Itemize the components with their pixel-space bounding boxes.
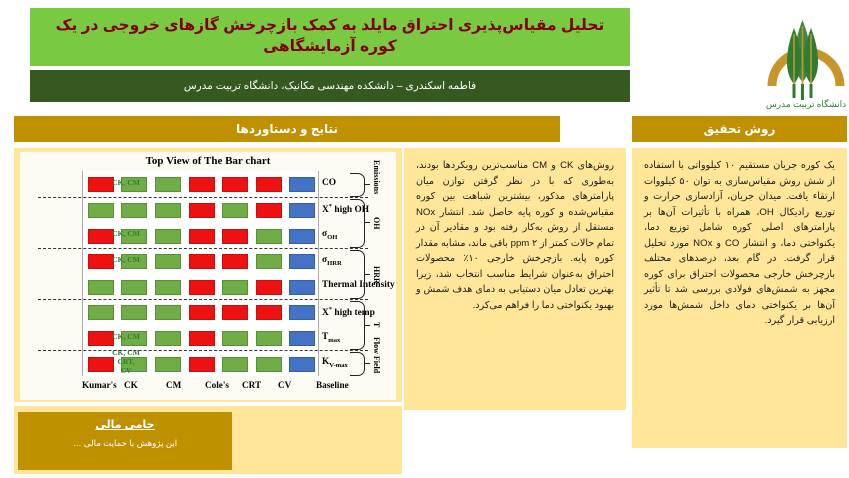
chart-cell bbox=[88, 280, 114, 295]
results-body-text: روش‌های CK و CM مناسب‌ترین رویکردها بودن… bbox=[404, 148, 626, 321]
chart-row-label: σOH bbox=[322, 229, 337, 241]
chart-cell bbox=[222, 177, 248, 192]
chart-cell bbox=[256, 280, 282, 295]
chart-cell bbox=[88, 203, 114, 218]
chart-cell bbox=[289, 177, 315, 192]
chart-cell bbox=[289, 357, 315, 372]
chart-left-annotation: CK, CM bbox=[98, 333, 154, 342]
chart-cell bbox=[155, 177, 181, 192]
chart-cell bbox=[189, 229, 215, 244]
poster-header: تحلیل مقیاس‌پذیری احتراق مایلد به کمک با… bbox=[0, 0, 849, 112]
sponsor-title: حامی مالی bbox=[18, 412, 232, 431]
chart-left-annotation: CK, CM bbox=[98, 230, 154, 239]
chart-group-label: Emissions bbox=[372, 160, 381, 194]
chart-cell bbox=[289, 254, 315, 269]
results-text-panel: روش‌های CK و CM مناسب‌ترین رویکردها بودن… bbox=[404, 148, 626, 410]
chart-cell bbox=[155, 331, 181, 346]
chart-cell bbox=[155, 254, 181, 269]
university-logo: دانشگاه تربیت مدرس bbox=[766, 4, 846, 110]
chart-cell bbox=[189, 305, 215, 320]
section-header-results-label: نتایج و دستاوردها bbox=[236, 122, 338, 136]
chart-left-annotation: CK, CM bbox=[98, 256, 154, 265]
poster-root: تحلیل مقیاس‌پذیری احتراق مایلد به کمک با… bbox=[0, 0, 849, 478]
chart-cell bbox=[189, 357, 215, 372]
chart-cell bbox=[88, 305, 114, 320]
chart-group-separator bbox=[38, 248, 368, 249]
chart-cell bbox=[121, 305, 147, 320]
chart-cell bbox=[256, 177, 282, 192]
chart-x-axis-label: Kumar's bbox=[82, 380, 117, 390]
chart-group-brace bbox=[350, 173, 365, 197]
chart-group-label: T bbox=[372, 322, 381, 327]
chart-cell bbox=[222, 203, 248, 218]
chart-group-separator bbox=[38, 197, 368, 198]
chart-cell bbox=[155, 357, 181, 372]
chart-x-axis-label: CM bbox=[166, 380, 181, 390]
chart-cell bbox=[289, 203, 315, 218]
chart-row-label: Tmax bbox=[322, 332, 340, 344]
chart-group-brace-tick bbox=[364, 222, 370, 223]
chart-group-brace-tick bbox=[364, 184, 370, 185]
chart-cell bbox=[256, 254, 282, 269]
bar-chart-top-view: Top View of The Bar chart COCK, CMX* hig… bbox=[20, 152, 396, 400]
chart-cell bbox=[155, 229, 181, 244]
chart-row-label: KV-max bbox=[322, 357, 348, 369]
chart-group-brace bbox=[350, 352, 365, 376]
university-logo-icon: دانشگاه تربیت مدرس bbox=[766, 4, 846, 110]
chart-cell bbox=[289, 280, 315, 295]
chart-cell bbox=[222, 357, 248, 372]
chart-group-separator bbox=[38, 350, 368, 351]
chart-cell bbox=[256, 331, 282, 346]
section-header-results: نتایج و دستاوردها bbox=[14, 116, 560, 142]
chart-x-axis-label: CK bbox=[124, 380, 138, 390]
chart-cell bbox=[189, 203, 215, 218]
chart-cell bbox=[189, 331, 215, 346]
chart-group-separator bbox=[38, 299, 368, 300]
chart-cell bbox=[256, 203, 282, 218]
chart-group-brace-tick bbox=[364, 363, 370, 364]
chart-group-brace bbox=[350, 250, 365, 299]
chart-left-annotation: CK, CMCRT,CV bbox=[98, 349, 154, 375]
chart-x-axis-label: CV bbox=[278, 380, 291, 390]
chart-row-label: X* high temp bbox=[322, 306, 375, 318]
chart-cell bbox=[155, 280, 181, 295]
sponsor-text: این پژوهش با حمایت مالی … bbox=[18, 431, 232, 449]
svg-text:دانشگاه تربیت مدرس: دانشگاه تربیت مدرس bbox=[766, 98, 846, 110]
chart-cell bbox=[155, 203, 181, 218]
chart-cell bbox=[189, 254, 215, 269]
chart-group-label: HRR bbox=[372, 266, 381, 284]
chart-cell bbox=[222, 305, 248, 320]
chart-group-brace bbox=[350, 199, 365, 248]
chart-group-brace-tick bbox=[364, 274, 370, 275]
chart-x-axis-label: Baseline bbox=[316, 380, 349, 390]
chart-plot-area bbox=[82, 171, 319, 376]
poster-author-bar: فاطمه اسکندری – دانشکده مهندسی مکانیک، د… bbox=[30, 70, 630, 102]
chart-cell bbox=[121, 203, 147, 218]
chart-cell bbox=[189, 280, 215, 295]
chart-cell bbox=[222, 280, 248, 295]
chart-cell bbox=[256, 229, 282, 244]
chart-x-axis-label: Cole's bbox=[205, 380, 229, 390]
chart-x-axis-label: CRT bbox=[242, 380, 261, 390]
chart-cell bbox=[289, 229, 315, 244]
author-affiliation: فاطمه اسکندری – دانشکده مهندسی مکانیک، د… bbox=[184, 80, 476, 92]
chart-cell bbox=[289, 331, 315, 346]
chart-row-label: CO bbox=[322, 178, 336, 188]
chart-cell bbox=[256, 357, 282, 372]
section-header-method-label: روش تحقیق bbox=[704, 122, 776, 136]
chart-cell bbox=[222, 331, 248, 346]
poster-title-bar: تحلیل مقیاس‌پذیری احتراق مایلد به کمک با… bbox=[30, 8, 630, 66]
section-header-method: روش تحقیق bbox=[632, 116, 847, 142]
chart-cell bbox=[121, 280, 147, 295]
chart-cell bbox=[189, 177, 215, 192]
chart-cell bbox=[289, 305, 315, 320]
chart-cell bbox=[222, 254, 248, 269]
chart-row-label: σHRR bbox=[322, 255, 342, 267]
sponsor-panel: حامی مالی این پژوهش با حمایت مالی … bbox=[18, 412, 232, 470]
method-body-text: یک کوره جریان مستقیم ۱۰ کیلوواتی با استف… bbox=[632, 148, 847, 337]
chart-title: Top View of The Bar chart bbox=[20, 155, 396, 167]
chart-group-label: Flow Field bbox=[372, 337, 381, 373]
chart-cell bbox=[222, 229, 248, 244]
page-title: تحلیل مقیاس‌پذیری احتراق مایلد به کمک با… bbox=[30, 16, 630, 58]
chart-group-label: OH bbox=[372, 217, 381, 229]
method-text-panel: یک کوره جریان مستقیم ۱۰ کیلوواتی با استف… bbox=[632, 148, 847, 448]
chart-group-brace-tick bbox=[364, 325, 370, 326]
chart-group-brace bbox=[350, 301, 365, 350]
chart-left-annotation: CK, CM bbox=[98, 179, 154, 188]
chart-cell bbox=[256, 305, 282, 320]
chart-cell bbox=[155, 305, 181, 320]
